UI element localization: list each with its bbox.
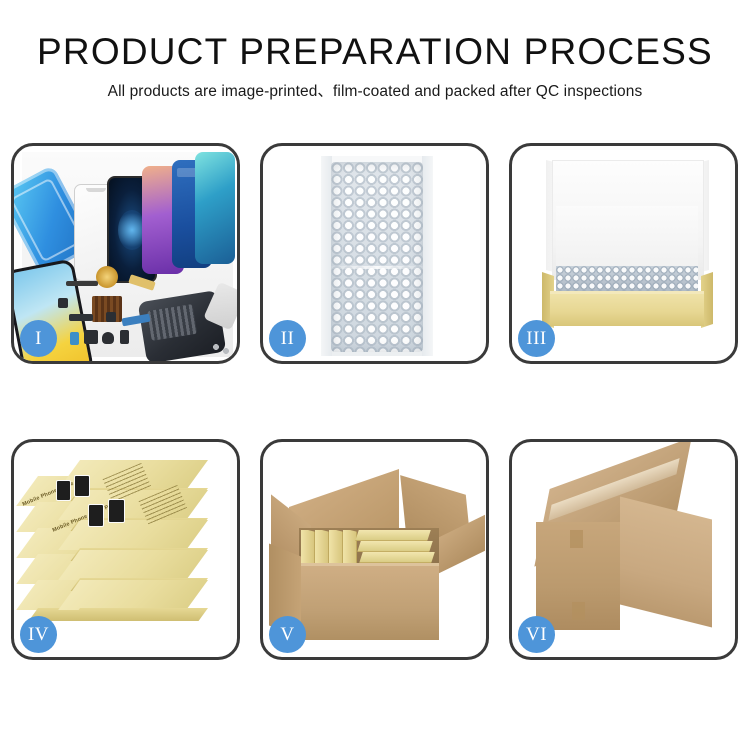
small-part-a bbox=[70, 332, 79, 345]
box-screen-art-rear-1 bbox=[56, 480, 71, 501]
mailer-front-panel bbox=[550, 294, 704, 326]
small-part-c bbox=[102, 332, 114, 344]
header: PRODUCT PREPARATION PROCESS All products… bbox=[0, 0, 750, 103]
flex-cable-part-1 bbox=[66, 281, 98, 286]
step-badge-2: II bbox=[269, 320, 306, 357]
process-step-4: Mobile Phone Spare Parts Mobile Phone Sp… bbox=[11, 439, 240, 660]
carton-front-panel bbox=[299, 566, 439, 640]
process-step-6: VI bbox=[509, 439, 738, 660]
small-part-b bbox=[84, 330, 98, 344]
box-screen-art-rear-2 bbox=[74, 475, 90, 497]
process-step-1: I bbox=[11, 143, 240, 364]
step-badge-1: I bbox=[20, 320, 57, 357]
bubble-wrapped-product bbox=[331, 162, 423, 352]
process-step-3: III bbox=[509, 143, 738, 364]
step-badge-3: III bbox=[518, 320, 555, 357]
bubble-wrap-edge-right bbox=[422, 156, 433, 356]
process-step-grid: I II bbox=[11, 143, 739, 660]
step-badge-4: IV bbox=[20, 616, 57, 653]
step-badge-6: VI bbox=[518, 616, 555, 653]
mailer-foam-liner bbox=[556, 206, 698, 268]
step-badge-5: V bbox=[269, 616, 306, 653]
product-preparation-infographic: PRODUCT PREPARATION PROCESS All products… bbox=[0, 0, 750, 750]
box-screen-art-front-2 bbox=[108, 499, 125, 523]
sealed-carton-right-panel bbox=[620, 497, 712, 628]
process-step-2: II bbox=[260, 143, 489, 364]
screws-part bbox=[212, 342, 234, 356]
flex-cable-part-3 bbox=[69, 314, 93, 321]
process-step-5: V bbox=[260, 439, 489, 660]
small-part-f bbox=[58, 298, 68, 308]
carton-handle-notch-top bbox=[570, 530, 583, 548]
page-subtitle: All products are image-printed、film-coat… bbox=[0, 81, 750, 103]
page-title: PRODUCT PREPARATION PROCESS bbox=[0, 30, 750, 74]
retail-box-front-5 bbox=[80, 580, 208, 626]
carton-handle-notch-bottom bbox=[572, 602, 585, 620]
box-screen-art-front-1 bbox=[88, 504, 104, 527]
bubble-wrap-seam bbox=[331, 266, 423, 269]
small-part-e bbox=[106, 312, 116, 322]
speaker-coil-part bbox=[96, 266, 118, 288]
phone-display-teal bbox=[195, 152, 235, 264]
small-part-d bbox=[120, 330, 129, 344]
